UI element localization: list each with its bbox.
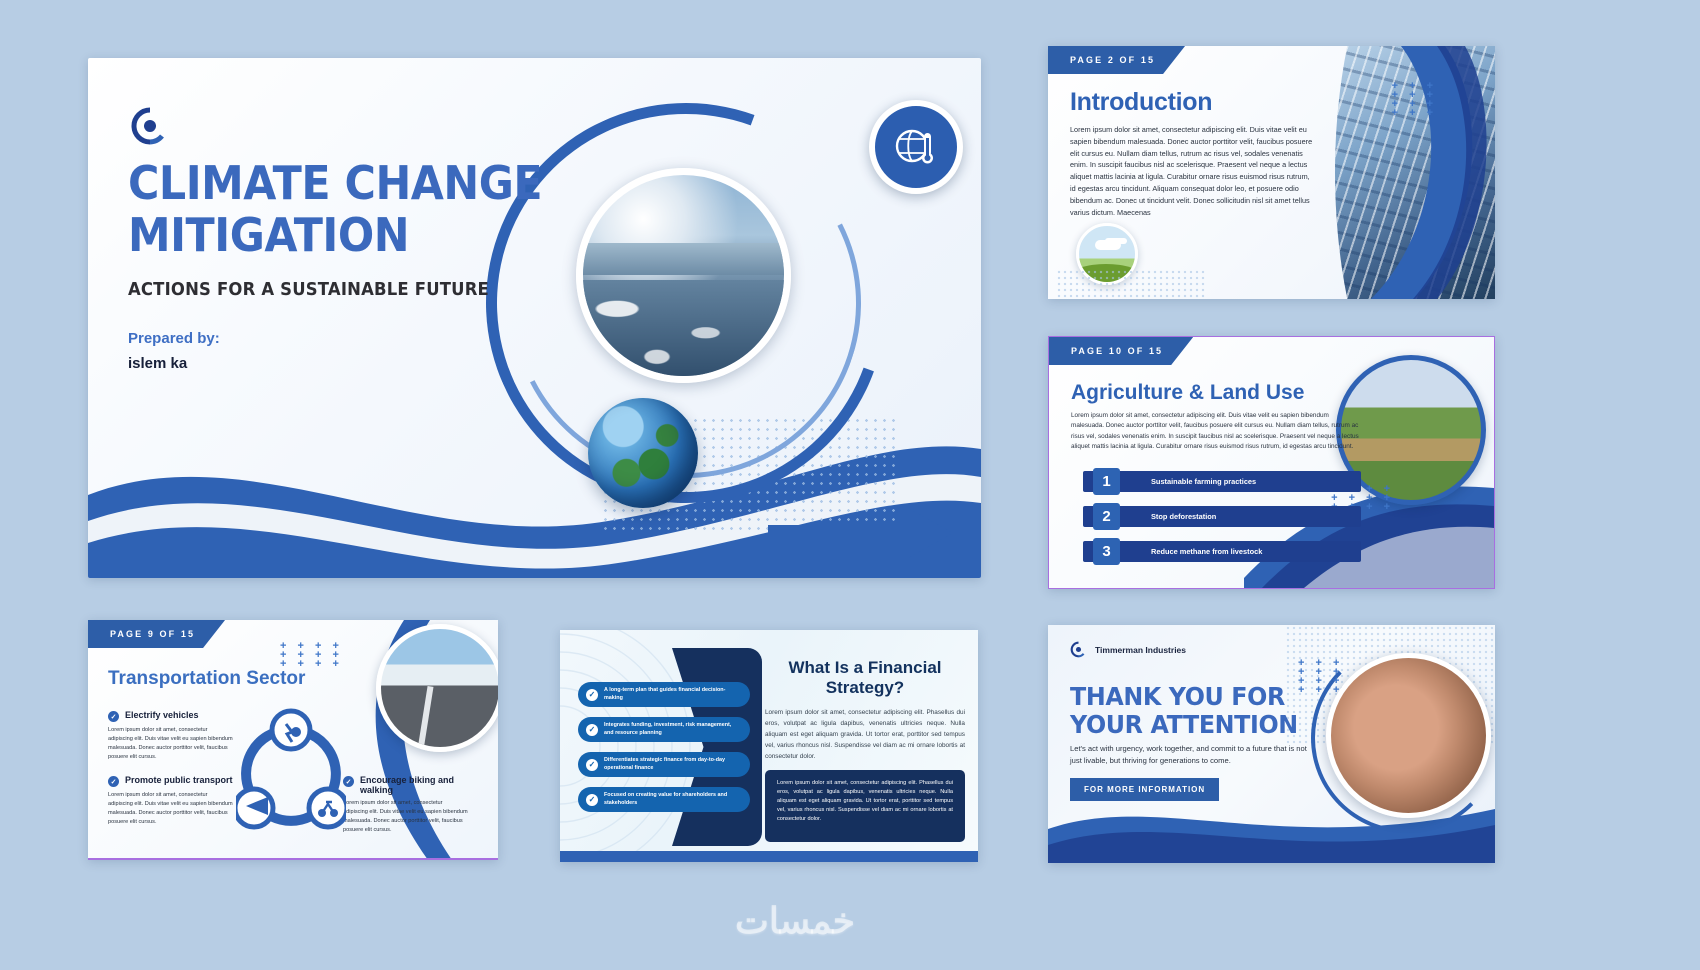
list-item-number: 1 bbox=[1093, 468, 1120, 495]
page-ribbon: PAGE 10 OF 15 bbox=[1049, 337, 1193, 365]
plus-pattern: + + + + + + + + + + + + bbox=[280, 642, 343, 669]
check-icon: ✓ bbox=[586, 689, 598, 701]
globe-thermometer-badge bbox=[869, 100, 963, 194]
bullet-heading: Promote public transport bbox=[125, 775, 233, 785]
pill-label: Differentiates strategic finance from da… bbox=[604, 757, 742, 772]
agriculture-body-text: Lorem ipsum dolor sit amet, consectetur … bbox=[1071, 411, 1361, 453]
bullet-heading: Encourage biking and walking bbox=[360, 775, 468, 795]
slide-agriculture-land-use[interactable]: PAGE 10 OF 15 Agriculture & Land Use Lor… bbox=[1048, 336, 1495, 589]
list-item[interactable]: ✓ Integrates funding, investment, risk m… bbox=[578, 717, 750, 742]
title-subheading: ACTIONS FOR A SUSTAINABLE FUTURE bbox=[128, 280, 489, 300]
financial-highlight-card: Lorem ipsum dolor sit amet, consectetur … bbox=[765, 770, 965, 842]
clapping-hands-photo bbox=[1326, 653, 1491, 818]
list-item[interactable]: ✓ A long-term plan that guides financial… bbox=[578, 682, 750, 707]
bullet-body: Lorem ipsum dolor sit amet, consectetur … bbox=[343, 799, 468, 835]
title-line-1: CLIMATE CHANGE bbox=[128, 156, 542, 210]
intro-body-text: Lorem ipsum dolor sit amet, consectetur … bbox=[1070, 124, 1316, 219]
financial-body-text: Lorem ipsum dolor sit amet, consectetur … bbox=[765, 708, 965, 762]
prepared-by-label: Prepared by: bbox=[128, 330, 220, 347]
halftone-dots bbox=[1056, 269, 1206, 299]
thankyou-line-1: THANK YOU FOR bbox=[1070, 682, 1285, 711]
slide-introduction[interactable]: PAGE 2 OF 15 + + + + + + + + + + + + Int… bbox=[1048, 46, 1495, 299]
check-icon: ✓ bbox=[108, 776, 119, 787]
financial-points-list: ✓ A long-term plan that guides financial… bbox=[578, 682, 750, 822]
slide-title-cover[interactable]: CLIMATE CHANGE MITIGATION ACTIONS FOR A … bbox=[88, 58, 981, 578]
check-icon: ✓ bbox=[108, 711, 119, 722]
list-item-label: Stop deforestation bbox=[1151, 512, 1216, 521]
list-item-number: 3 bbox=[1093, 538, 1120, 565]
page-ribbon: PAGE 2 OF 15 bbox=[1048, 46, 1185, 74]
earth-globe-graphic bbox=[588, 398, 698, 508]
list-item-label: Sustainable farming practices bbox=[1151, 477, 1256, 486]
list-item[interactable]: Reduce methane from livestock 3 bbox=[1071, 541, 1371, 562]
watermark: خمسات bbox=[680, 898, 910, 944]
curved-arrow-icon bbox=[728, 498, 958, 568]
bullet-heading: Electrify vehicles bbox=[125, 710, 199, 720]
cyclist-icon bbox=[309, 789, 346, 827]
slide-thank-you[interactable]: Timmerman Industries + + + + + + + + + +… bbox=[1048, 625, 1495, 863]
check-icon: ✓ bbox=[586, 724, 598, 736]
check-icon: ✓ bbox=[586, 794, 598, 806]
pill-label: Focused on creating value for shareholde… bbox=[604, 792, 742, 807]
bullet-electrify[interactable]: ✓ Electrify vehicles Lorem ipsum dolor s… bbox=[108, 710, 233, 762]
bullet-public-transport[interactable]: ✓ Promote public transport Lorem ipsum d… bbox=[108, 775, 233, 827]
pill-label: Integrates funding, investment, risk man… bbox=[604, 722, 742, 737]
bullet-body: Lorem ipsum dolor sit amet, consectetur … bbox=[108, 791, 233, 827]
cycle-diagram bbox=[236, 708, 346, 838]
slide-transportation-sector[interactable]: PAGE 9 OF 15 + + + + + + + + + + + + Tra… bbox=[88, 620, 498, 860]
title-line-2: MITIGATION bbox=[128, 208, 409, 262]
slide-financial-strategy[interactable]: ✓ A long-term plan that guides financial… bbox=[560, 630, 978, 862]
thankyou-line-2: YOUR ATTENTION bbox=[1070, 710, 1298, 739]
brand-name: Timmerman Industries bbox=[1095, 645, 1186, 655]
plus-pattern: + + + + + + + + + + + + bbox=[1298, 659, 1343, 695]
numbered-list: Sustainable farming practices 1 Stop def… bbox=[1071, 471, 1371, 576]
circular-swirl-logo-icon bbox=[1070, 641, 1087, 658]
brand-row: Timmerman Industries bbox=[1070, 641, 1186, 658]
mountain-highway-photo bbox=[376, 624, 498, 752]
list-item[interactable]: Sustainable farming practices 1 bbox=[1071, 471, 1371, 492]
list-item-number: 2 bbox=[1093, 503, 1120, 530]
thank-you-title: THANK YOU FOR YOUR ATTENTION bbox=[1070, 683, 1298, 739]
page-title: CLIMATE CHANGE MITIGATION bbox=[128, 158, 612, 261]
list-item[interactable]: ✓ Differentiates strategic finance from … bbox=[578, 752, 750, 777]
check-icon: ✓ bbox=[586, 759, 598, 771]
circular-swirl-logo-icon bbox=[130, 106, 170, 146]
intro-title: Introduction bbox=[1070, 88, 1212, 117]
transportation-title: Transportation Sector bbox=[108, 668, 305, 690]
slides-canvas: CLIMATE CHANGE MITIGATION ACTIONS FOR A … bbox=[0, 0, 1700, 970]
agriculture-title: Agriculture & Land Use bbox=[1071, 381, 1304, 405]
financial-title: What Is a Financial Strategy? bbox=[765, 658, 965, 698]
pill-label: A long-term plan that guides financial d… bbox=[604, 687, 742, 702]
bullet-biking-walking[interactable]: ✓ Encourage biking and walking Lorem ips… bbox=[343, 775, 468, 835]
thank-you-body: Let's act with urgency, work together, a… bbox=[1070, 743, 1315, 767]
globe-thermometer-icon bbox=[890, 121, 942, 173]
list-item[interactable]: Stop deforestation 2 bbox=[1071, 506, 1371, 527]
prepared-by-name: islem ka bbox=[128, 355, 187, 372]
footer-bar bbox=[560, 851, 978, 862]
bullet-body: Lorem ipsum dolor sit amet, consectetur … bbox=[108, 726, 233, 762]
for-more-information-button[interactable]: FOR MORE INFORMATION bbox=[1070, 778, 1219, 801]
list-item[interactable]: ✓ Focused on creating value for sharehol… bbox=[578, 787, 750, 812]
plus-pattern: + + + + + + + + + + + + bbox=[1392, 82, 1437, 118]
page-ribbon: PAGE 9 OF 15 bbox=[88, 620, 225, 648]
list-item-label: Reduce methane from livestock bbox=[1151, 547, 1262, 556]
